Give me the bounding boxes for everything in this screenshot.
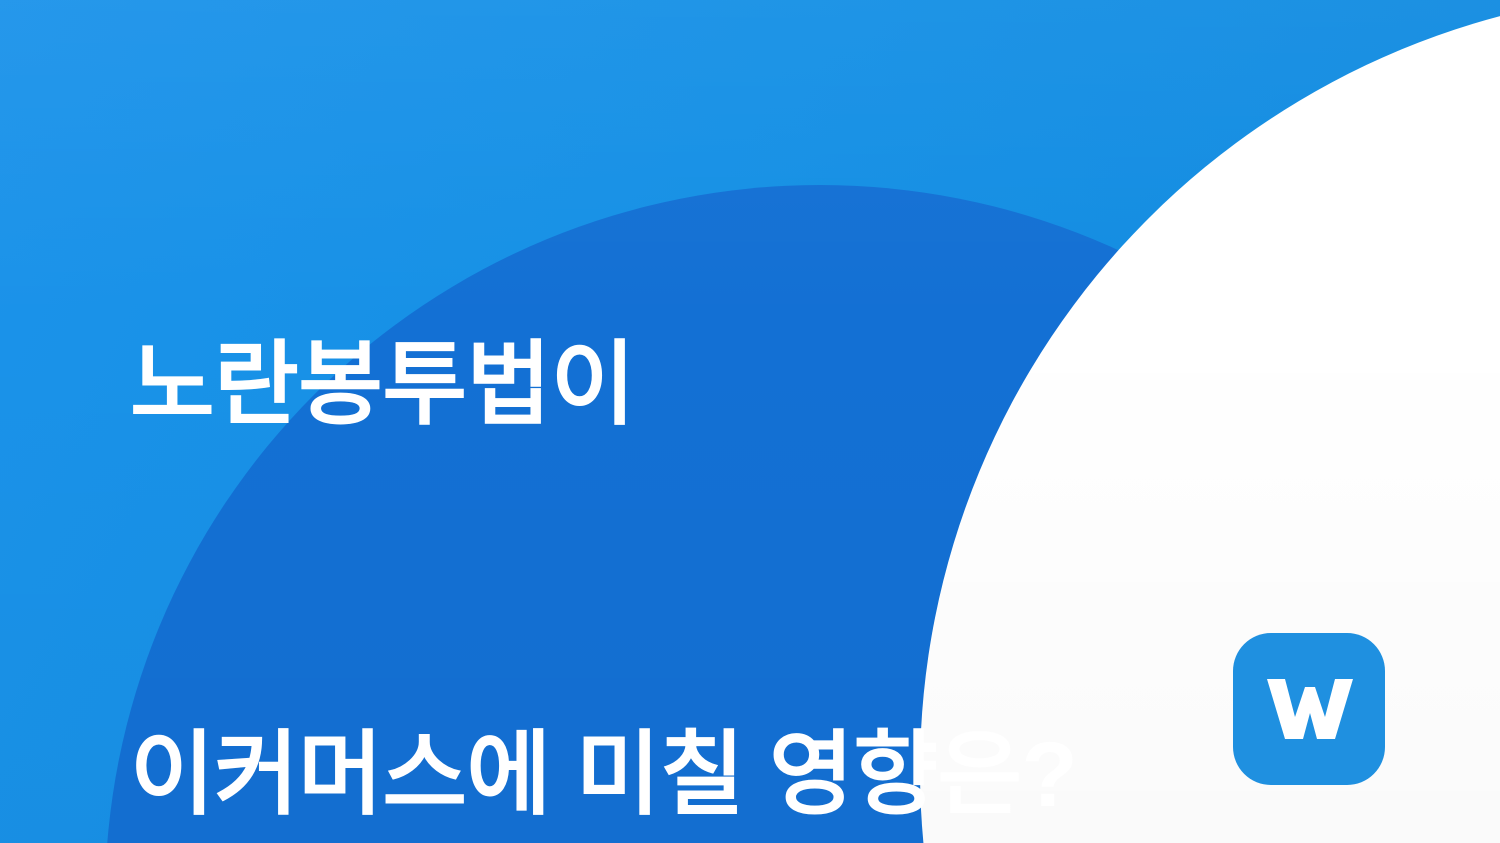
headline-line-2: 이커머스에 미칠 영향은? bbox=[130, 711, 1280, 841]
w-logo-icon bbox=[1263, 673, 1355, 745]
headline: 노란봉투법이 이커머스에 미칠 영향은? bbox=[130, 62, 1280, 843]
social-card: 노란봉투법이 이커머스에 미칠 영향은? bbox=[0, 0, 1500, 843]
brand-logo[interactable] bbox=[1233, 633, 1385, 785]
headline-line-1: 노란봉투법이 bbox=[130, 321, 1280, 451]
